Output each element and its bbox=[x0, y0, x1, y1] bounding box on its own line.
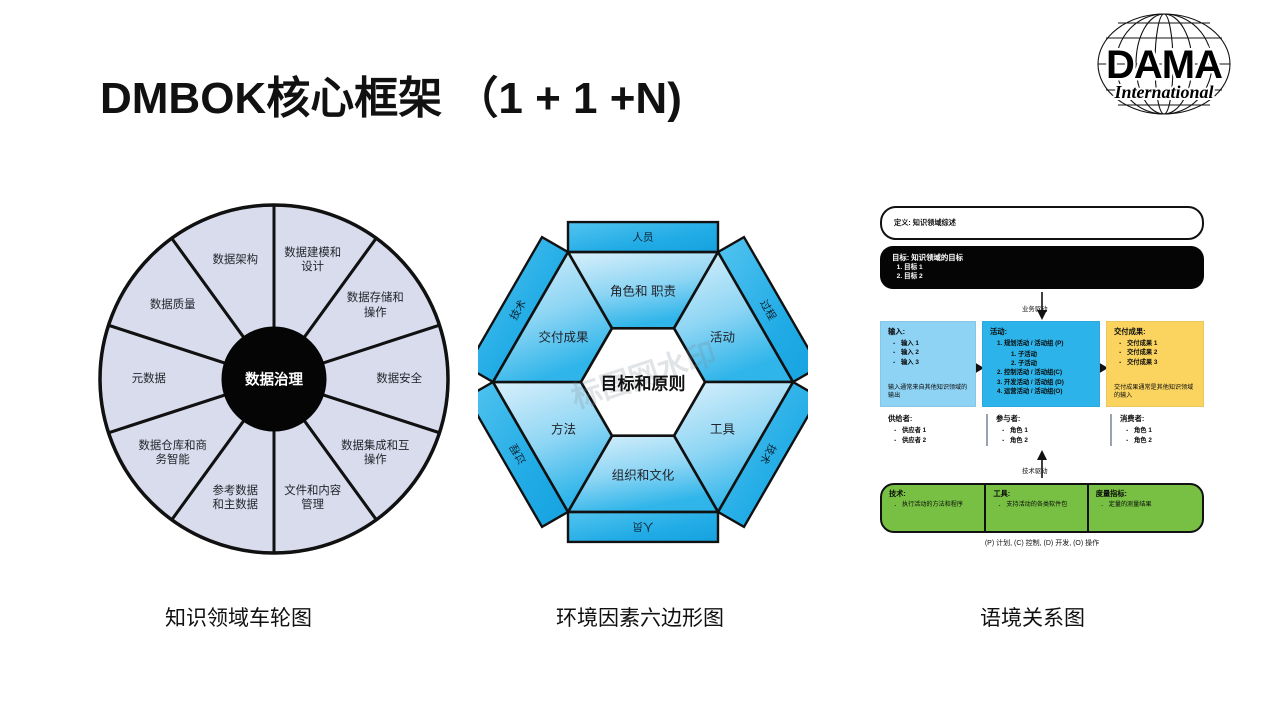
participant-item: 角色 1 bbox=[1001, 426, 1104, 436]
goal-header: 目标: 知识领域的目标 bbox=[892, 252, 1204, 263]
participant-item: 角色 2 bbox=[1001, 436, 1104, 446]
knowledge-areas-wheel: 数据治理 数据建模和 设计数据存储和 操作数据安全数据集成和互 操作文件和内容 … bbox=[98, 203, 450, 555]
technology-driver-label: 技术驱动 bbox=[1022, 466, 1048, 475]
consumer-header: 消费者: bbox=[1120, 414, 1206, 424]
enabler-list: 执行活动的方法和程序 bbox=[893, 501, 984, 510]
input-list: 输入 1输入 2输入 3 bbox=[892, 339, 975, 367]
goal-list: 目标 1目标 2 bbox=[904, 264, 1204, 282]
enabler-list: 定量的测量结果 bbox=[1100, 501, 1202, 510]
context-diagram: 定义: 知识领域综述 目标: 知识领域的目标 目标 1目标 2 业务驱动 技术驱… bbox=[874, 204, 1210, 556]
supplier-item: 供应者 1 bbox=[893, 426, 976, 436]
input-item: 输入 2 bbox=[892, 348, 975, 357]
activity-item: 规划活动 / 活动组 (P)子活动子活动 bbox=[1004, 339, 1099, 368]
participant-group: 参与者: 角色 1角色 2 bbox=[986, 414, 1104, 446]
deliverable-item: 交付成果 1 bbox=[1118, 339, 1203, 348]
caption-context: 语境关系图 bbox=[980, 602, 1085, 632]
dama-logo: DAMA International bbox=[1066, 8, 1262, 120]
deliverables-header: 交付成果: bbox=[1114, 327, 1203, 337]
sub-activity-item: 子活动 bbox=[1018, 350, 1099, 359]
consumer-group: 消费者: 角色 1角色 2 bbox=[1110, 414, 1206, 446]
definition-box: 定义: 知识领域综述 bbox=[880, 206, 1204, 240]
context-legend: (P) 计划, (C) 控制, (D) 开发, (O) 操作 bbox=[874, 538, 1210, 548]
slide-canvas: DMBOK核心框架 （1 + 1 +N) DAMA International bbox=[0, 0, 1280, 720]
enabler-header: 技术: bbox=[889, 489, 984, 499]
definition-text: 定义: 知识领域综述 bbox=[894, 218, 956, 228]
deliverables-column: 交付成果: 交付成果 1交付成果 2交付成果 3 交付成果通常是其他知识领域的输… bbox=[1106, 321, 1204, 407]
supplier-item: 供应者 2 bbox=[893, 436, 976, 446]
enabler-header: 度量指标: bbox=[1096, 489, 1202, 499]
environmental-factors-hexagon: 标图网水印 目标和原则 角色和 职责活动工具组织和文化方法交付成果 人员过程技术… bbox=[478, 196, 808, 558]
sub-activity-item: 子活动 bbox=[1018, 359, 1099, 368]
enabler-item: 执行活动的方法和程序 bbox=[893, 501, 984, 510]
enabler-cell: 工具:支持活动的各类软件包 bbox=[984, 485, 1086, 531]
hexagon-tab[interactable] bbox=[568, 512, 718, 542]
business-driver-label: 业务驱动 bbox=[1022, 304, 1048, 313]
caption-hexagon: 环境因素六边形图 bbox=[556, 602, 724, 632]
hexagon-tab[interactable] bbox=[568, 222, 718, 252]
enabler-cell: 技术:执行活动的方法和程序 bbox=[882, 485, 984, 531]
enabler-header: 工具: bbox=[993, 489, 1086, 499]
deliverable-item: 交付成果 2 bbox=[1118, 348, 1203, 357]
goal-item: 目标 1 bbox=[904, 264, 1204, 273]
activities-list: 规划活动 / 活动组 (P)子活动子活动控制活动 / 活动组(C)开发活动 / … bbox=[1004, 339, 1099, 396]
page-title: DMBOK核心框架 （1 + 1 +N) bbox=[100, 62, 682, 126]
activity-item: 控制活动 / 活动组(C) bbox=[1004, 368, 1099, 377]
consumer-item: 角色 2 bbox=[1125, 436, 1206, 446]
dama-globe-icon: DAMA International bbox=[1066, 8, 1262, 120]
svg-text:DAMA: DAMA bbox=[1106, 43, 1222, 87]
enabler-item: 支持活动的各类软件包 bbox=[997, 501, 1086, 510]
input-item: 输入 1 bbox=[892, 339, 975, 348]
svg-text:International: International bbox=[1113, 82, 1213, 102]
enablers-bar: 技术:执行活动的方法和程序工具:支持活动的各类软件包度量指标:定量的测量结果 bbox=[880, 483, 1204, 533]
enabler-list: 支持活动的各类软件包 bbox=[997, 501, 1086, 510]
enabler-cell: 度量指标:定量的测量结果 bbox=[1087, 485, 1202, 531]
sub-activity-list: 子活动子活动 bbox=[1018, 350, 1099, 368]
supplier-header: 供给者: bbox=[888, 414, 976, 424]
consumer-list: 角色 1角色 2 bbox=[1125, 426, 1206, 446]
participant-header: 参与者: bbox=[996, 414, 1104, 424]
activity-item: 开发活动 / 活动组 (D) bbox=[1004, 378, 1099, 387]
supplier-group: 供给者: 供应者 1供应者 2 bbox=[880, 414, 976, 446]
participant-list: 角色 1角色 2 bbox=[1001, 426, 1104, 446]
input-item: 输入 3 bbox=[892, 358, 975, 367]
consumer-item: 角色 1 bbox=[1125, 426, 1206, 436]
supplier-list: 供应者 1供应者 2 bbox=[893, 426, 976, 446]
input-header: 输入: bbox=[888, 327, 975, 337]
goal-item: 目标 2 bbox=[904, 273, 1204, 282]
goal-box: 目标: 知识领域的目标 目标 1目标 2 bbox=[880, 246, 1204, 289]
input-column: 输入: 输入 1输入 2输入 3 输入通常来自其他知识领域的输出 bbox=[880, 321, 976, 407]
deliverables-list: 交付成果 1交付成果 2交付成果 3 bbox=[1118, 339, 1203, 367]
hexagon-center-label: 目标和原则 bbox=[601, 370, 686, 395]
activity-item: 运营活动 / 活动组(O) bbox=[1004, 387, 1099, 396]
deliverables-note: 交付成果通常是其他知识领域的输入 bbox=[1114, 384, 1198, 400]
activities-column: 活动: 规划活动 / 活动组 (P)子活动子活动控制活动 / 活动组(C)开发活… bbox=[982, 321, 1100, 407]
enabler-item: 定量的测量结果 bbox=[1100, 501, 1202, 510]
caption-wheel: 知识领域车轮图 bbox=[165, 602, 312, 632]
deliverable-item: 交付成果 3 bbox=[1118, 358, 1203, 367]
activities-header: 活动: bbox=[990, 327, 1099, 337]
dama-wordmark: DAMA International bbox=[1106, 43, 1222, 102]
wheel-center-label: 数据治理 bbox=[245, 369, 303, 390]
input-note: 输入通常来自其他知识领域的输出 bbox=[888, 384, 971, 400]
